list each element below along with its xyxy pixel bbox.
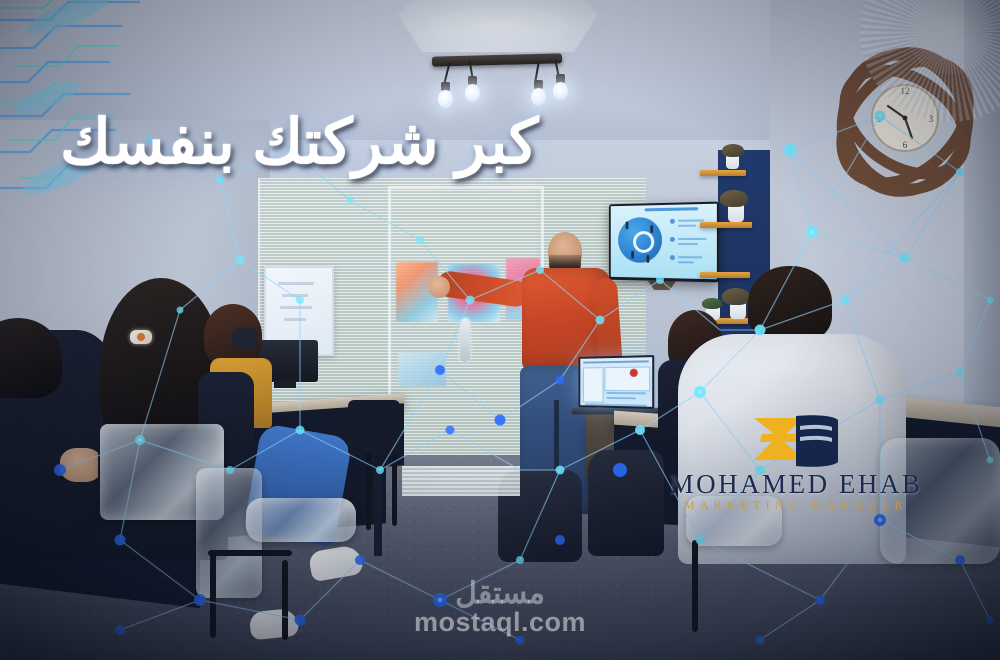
- presentation-screen: [609, 202, 719, 283]
- light-bulb: [465, 84, 480, 102]
- door-handle[interactable]: [460, 318, 470, 362]
- svg-text:6: 6: [903, 140, 908, 150]
- chair-leg: [366, 452, 371, 530]
- brand-logo-watermark: MOHAMED EHAB MARKETING MANAGER: [668, 412, 924, 534]
- chair-plastic-cover: [246, 498, 356, 542]
- chair-leg: [210, 552, 216, 638]
- chair-leg: [282, 560, 288, 640]
- monitor-stand: [274, 380, 296, 388]
- mostaql-arabic: مستقل: [400, 578, 600, 610]
- face-mask: [232, 328, 258, 350]
- promo-image-canvas: 123 69: [0, 0, 1000, 660]
- mostaql-watermark: مستقل mostaql.com: [400, 578, 600, 640]
- svg-text:3: 3: [929, 114, 934, 124]
- chair-leg: [392, 452, 397, 526]
- backpack: [588, 450, 664, 556]
- presenter-left-hand: [428, 276, 450, 298]
- logo-subtitle: MARKETING MANAGER: [668, 500, 924, 512]
- light-bulb: [438, 90, 453, 108]
- classroom-photo: 123 69: [0, 0, 1000, 660]
- plant: [722, 288, 750, 305]
- chair-leg: [692, 540, 698, 632]
- svg-text:12: 12: [901, 86, 910, 96]
- headline-text: كبر شركتك بنفسك: [60, 108, 620, 178]
- logo-mark: [668, 412, 924, 470]
- light-bulb: [553, 82, 568, 100]
- plant: [722, 144, 744, 157]
- chair-rail: [208, 550, 292, 556]
- logo-monogram-icon: [668, 412, 924, 470]
- plant: [702, 298, 722, 309]
- svg-text:9: 9: [878, 114, 883, 124]
- blind-strip: [402, 466, 520, 496]
- logo-name: MOHAMED EHAB: [668, 470, 924, 498]
- door-poster: [398, 352, 446, 386]
- sneaker: [249, 608, 300, 641]
- chair-back: [348, 400, 400, 456]
- wall-clock: 123 69: [820, 38, 990, 208]
- mostaql-latin: mostaql.com: [400, 608, 600, 636]
- laptop-screen[interactable]: [578, 355, 654, 409]
- light-bulb: [531, 88, 546, 106]
- ceiling-medallion-inner: [430, 6, 568, 46]
- plant: [720, 190, 748, 207]
